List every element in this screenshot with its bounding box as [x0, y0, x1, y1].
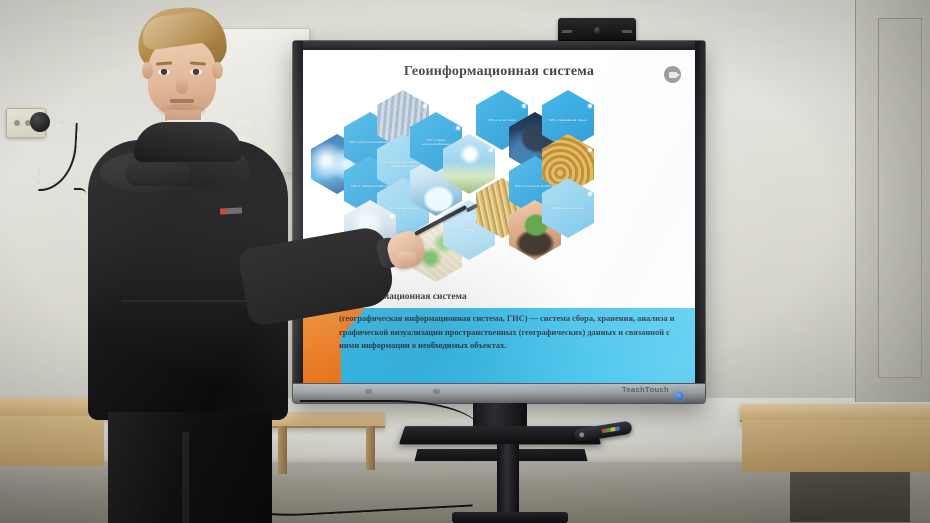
presenter — [30, 0, 350, 523]
bezel-right — [695, 41, 705, 403]
outlet-socket-hole — [14, 120, 20, 126]
ir-sensor-icon — [433, 389, 440, 394]
hexagon-connector-dot — [390, 214, 394, 218]
camera-lens-icon — [594, 27, 601, 34]
hexagon-connector-dot — [489, 148, 493, 152]
hexagon-connector-dot — [522, 104, 526, 108]
slide-subheading: Геоинформационная система — [341, 292, 681, 302]
ear-left — [142, 62, 153, 79]
ir-sensor-icon — [365, 389, 372, 394]
hexagon-connector-dot — [423, 104, 427, 108]
nose — [176, 76, 188, 94]
mouth — [170, 99, 194, 103]
hexagon-connector-dot — [588, 192, 592, 196]
stand-base — [452, 512, 568, 523]
trouser-leg-gap — [182, 432, 189, 523]
door-panel[interactable] — [878, 18, 922, 378]
trousers — [108, 412, 272, 523]
webcam-clip — [621, 30, 632, 33]
screenshot-scene: ГИС сис тема анал Геоинформационная сист… — [0, 0, 930, 523]
thumb — [398, 251, 417, 263]
hexagon-label: ГИС охрана природы — [548, 206, 588, 210]
hood-collar — [134, 122, 242, 162]
usb-webcam — [558, 18, 636, 42]
slide-title: Геоинформационная система — [303, 64, 695, 80]
hexagon-label: ИСОГД — [460, 228, 479, 232]
hexagon-connector-dot — [456, 126, 460, 130]
hoodie-pocket-seam — [122, 300, 254, 302]
hexagon-connector-dot — [588, 104, 592, 108]
hexagon-label: ГИС в газовом хозяйстве — [347, 184, 393, 188]
eye-right — [190, 69, 202, 75]
slide-body-text: (географическая информационная система, … — [339, 312, 687, 353]
display-brand-label: TeachTouch — [622, 385, 669, 394]
hoodie-chest-logo — [220, 207, 242, 214]
display-screen[interactable]: Геоинформационная система ГИС сетей тепл… — [303, 50, 695, 383]
hexagon-label: ГИС на транспорте — [384, 206, 421, 210]
video-glyph — [669, 72, 677, 78]
interactive-touch-display[interactable]: Геоинформационная система ГИС сетей тепл… — [293, 41, 705, 403]
video-play-badge-icon[interactable] — [664, 66, 681, 83]
hexagon-connector-dot — [588, 148, 592, 152]
eye-left — [158, 69, 170, 75]
hexagon-label: ГИС в банковской сфере — [545, 118, 591, 122]
ear-right — [212, 62, 223, 79]
hexagon-label: ГИС в сетях связи — [484, 118, 520, 122]
webcam-clip — [561, 30, 572, 33]
desk-right-body — [742, 420, 930, 472]
bezel-top — [293, 41, 705, 50]
remote-color-buttons[interactable] — [602, 426, 620, 433]
power-led-indicator[interactable] — [675, 392, 683, 400]
stand-neck — [473, 403, 527, 429]
presentation-slide[interactable]: Геоинформационная система ГИС сетей тепл… — [303, 50, 695, 383]
remote-power-button[interactable] — [579, 432, 585, 438]
